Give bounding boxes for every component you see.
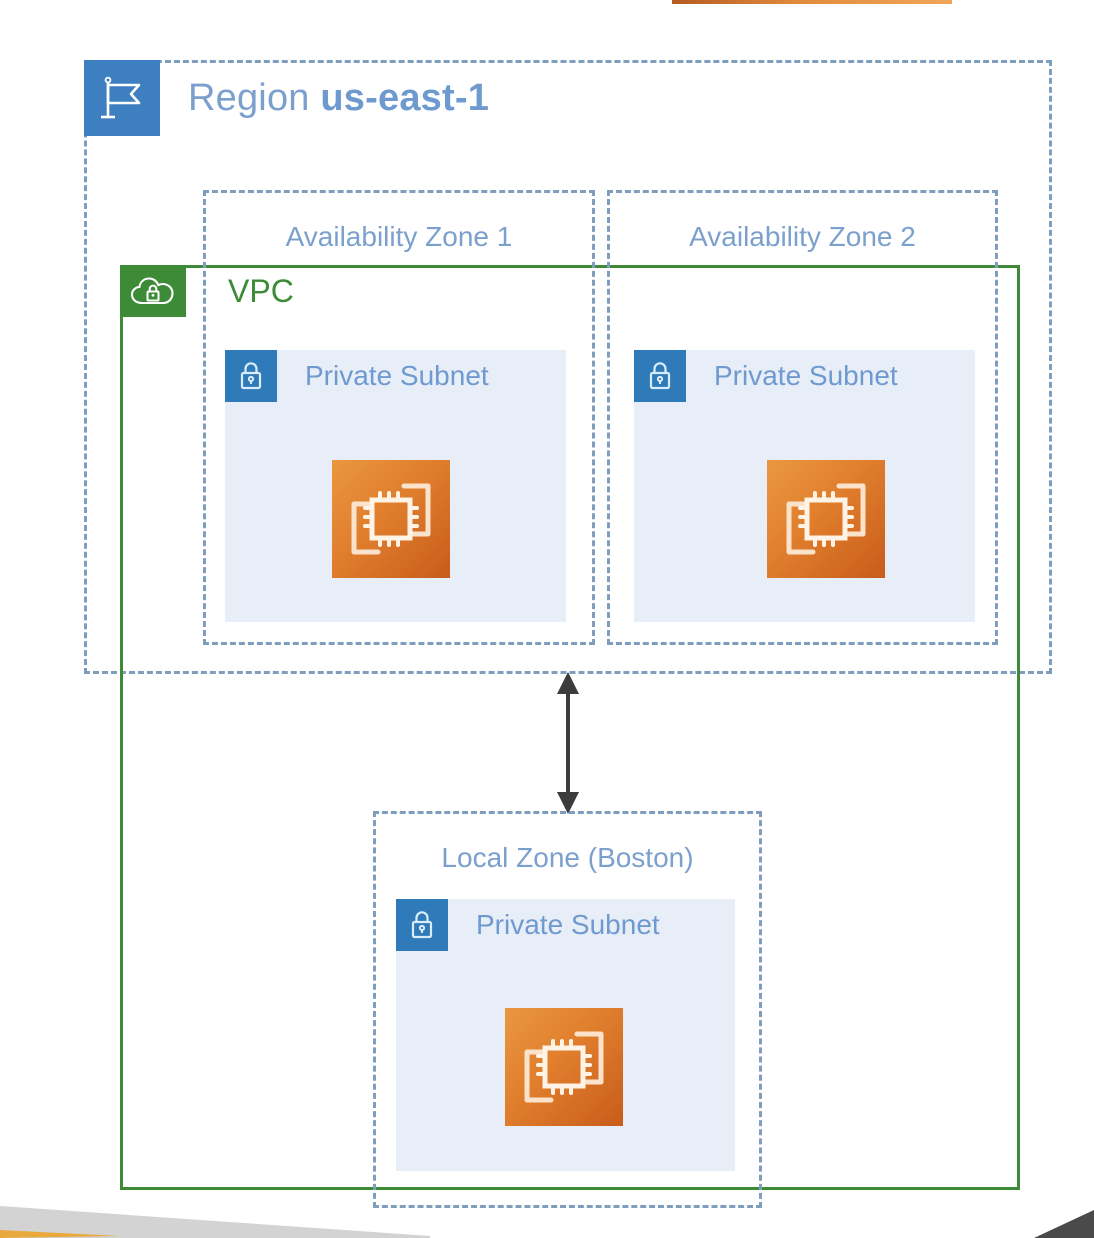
top-edge-sliver: [672, 0, 952, 4]
private-subnet-local-zone-header: Private Subnet: [396, 899, 660, 951]
footer-corner-decoration: [974, 1198, 1094, 1238]
private-subnet-az1-header: Private Subnet: [225, 350, 489, 402]
availability-zone-2-label: Availability Zone 2: [610, 221, 995, 253]
architecture-diagram-canvas: Region us-east-1 VPC Availability Zone 1: [0, 0, 1094, 1238]
flag-icon: [84, 60, 160, 136]
padlock-icon: [225, 350, 277, 402]
local-zone-label: Local Zone (Boston): [376, 842, 759, 874]
region-header: Region us-east-1: [84, 60, 489, 136]
private-subnet-az2-header: Private Subnet: [634, 350, 898, 402]
ec2-instance-icon: [505, 1008, 623, 1126]
region-name: us-east-1: [320, 77, 489, 119]
region-title: Region us-east-1: [188, 77, 489, 120]
padlock-icon: [634, 350, 686, 402]
region-title-prefix: Region: [188, 77, 320, 119]
availability-zone-1-label: Availability Zone 1: [206, 221, 592, 253]
ec2-instance-icon: [767, 460, 885, 578]
double-headed-arrow-icon: [548, 672, 588, 814]
private-subnet-local-zone-label: Private Subnet: [476, 909, 660, 941]
ec2-instance-icon: [332, 460, 450, 578]
private-subnet-az2-label: Private Subnet: [714, 360, 898, 392]
padlock-icon: [396, 899, 448, 951]
cloud-lock-icon: [120, 265, 186, 317]
private-subnet-az1-label: Private Subnet: [305, 360, 489, 392]
footer-swoosh-decoration: [0, 1190, 430, 1238]
